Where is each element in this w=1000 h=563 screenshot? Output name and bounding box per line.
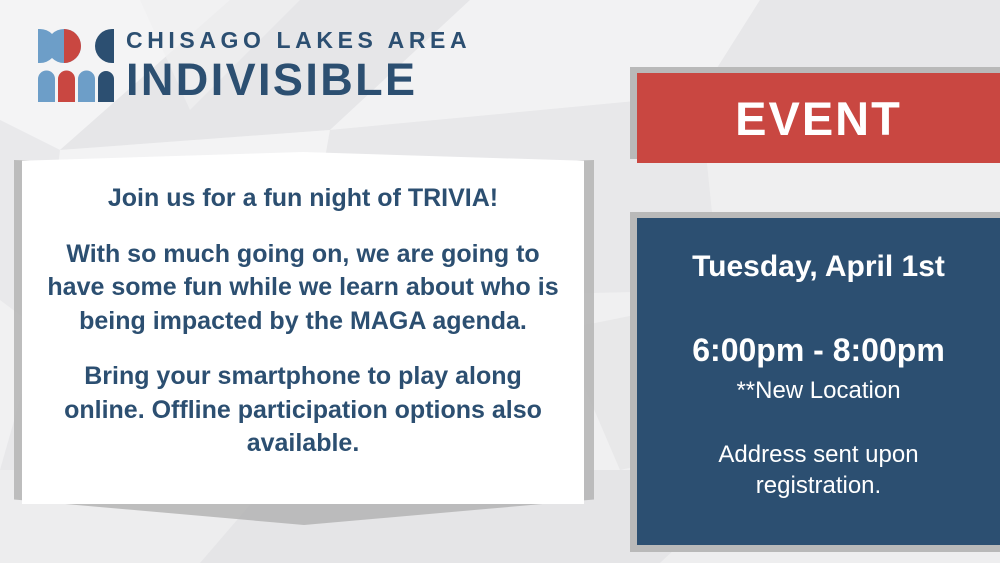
message-paragraph-3: Bring your smartphone to play along onli… [44,360,562,461]
logo-line-1: CHISAGO LAKES AREA [126,29,471,52]
logo-wordmark: CHISAGO LAKES AREA INDIVISIBLE [126,28,471,102]
message-paragraph-2: With so much going on, we are going to h… [44,238,562,339]
event-flyer: CHISAGO LAKES AREA INDIVISIBLE Join us f… [0,0,1000,563]
event-banner-label: EVENT [735,95,902,142]
event-time: 6:00pm - 8:00pm [655,333,982,368]
event-location-note: **New Location [655,377,982,405]
details-panel: Tuesday, April 1st 6:00pm - 8:00pm **New… [637,218,1000,545]
organization-logo: CHISAGO LAKES AREA INDIVISIBLE [38,28,471,102]
indivisible-people-mark [38,28,114,102]
event-address-note: Address sent upon registration. [655,439,982,501]
event-date: Tuesday, April 1st [655,250,982,283]
message-paragraph-1: Join us for a fun night of TRIVIA! [44,182,562,216]
message-card: Join us for a fun night of TRIVIA! With … [22,152,584,504]
event-banner: EVENT [637,73,1000,163]
logo-line-2: INDIVISIBLE [126,57,471,102]
